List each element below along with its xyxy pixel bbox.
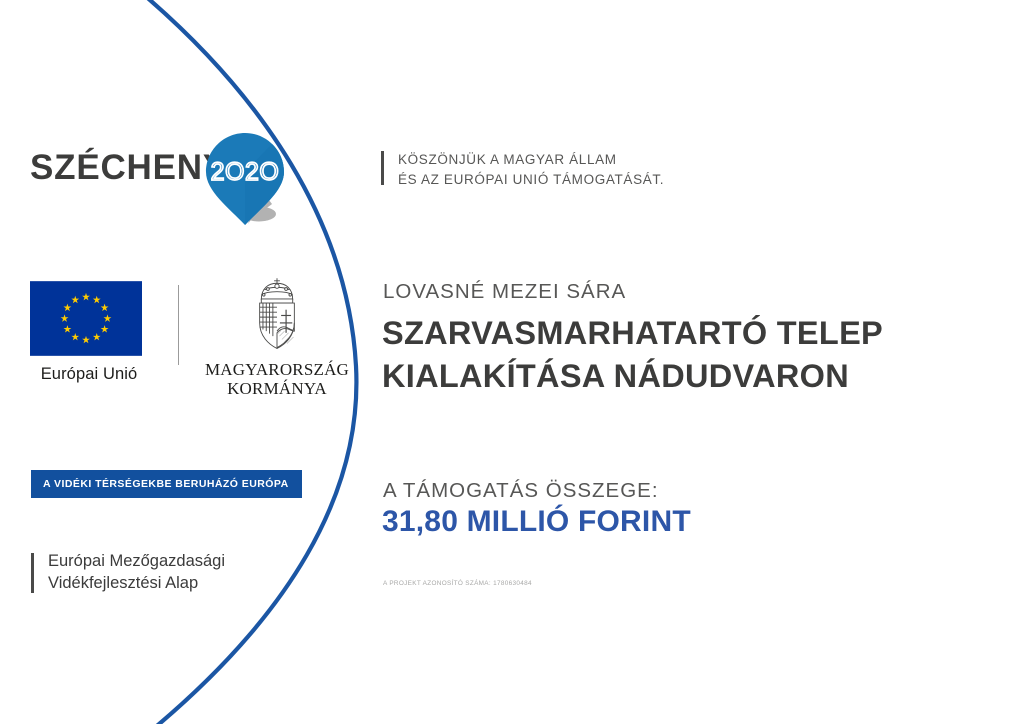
project-title-line1: SZARVASMARHATARTÓ TELEP (382, 312, 883, 355)
european-union-block: Európai Unió (30, 281, 148, 384)
hungary-government-caption: MAGYARORSZÁG KORMÁNYA (202, 360, 352, 398)
svg-text:2O2O: 2O2O (211, 158, 280, 186)
szechenyi-map-pin-icon: 2O2O (202, 128, 288, 228)
hungary-government-block: MAGYARORSZÁG KORMÁNYA (202, 275, 352, 398)
logo-divider (178, 285, 179, 365)
rural-europe-banner: A VIDÉKI TÉRSÉGEKBE BERUHÁZÓ EURÓPA (31, 470, 302, 498)
european-union-caption: Európai Unió (30, 365, 148, 384)
project-title: SZARVASMARHATARTÓ TELEP KIALAKÍTÁSA NÁDU… (382, 312, 883, 398)
thanks-line2: ÉS AZ EURÓPAI UNIÓ TÁMOGATÁSÁT. (398, 170, 664, 190)
funding-amount-value: 31,80 MILLIÓ FORINT (382, 505, 691, 539)
agricultural-fund-text: Európai Mezőgazdasági Vidékfejlesztési A… (31, 551, 225, 595)
funding-amount-label: A TÁMOGATÁS ÖSSZEGE: (383, 479, 659, 503)
project-title-line2: KIALAKÍTÁSA NÁDUDVARON (382, 355, 883, 398)
european-union-flag-icon (30, 281, 142, 356)
thanks-message: KÖSZÖNJÜK A MAGYAR ÁLLAM ÉS AZ EURÓPAI U… (381, 150, 664, 190)
hungary-caption-line2: KORMÁNYA (202, 379, 352, 398)
agricultural-fund-line1: Európai Mezőgazdasági (48, 551, 225, 573)
poster-board: SZÉCHENYI 2O2O (0, 0, 1024, 724)
project-identifier: A PROJEKT AZONOSÍTÓ SZÁMA: 1780630484 (383, 580, 532, 587)
left-logo-column: SZÉCHENYI 2O2O (0, 0, 340, 724)
beneficiary-name: LOVASNÉ MEZEI SÁRA (383, 280, 626, 304)
right-content-column: KÖSZÖNJÜK A MAGYAR ÁLLAM ÉS AZ EURÓPAI U… (381, 0, 1001, 724)
hungary-coat-of-arms-icon (248, 275, 306, 351)
thanks-line1: KÖSZÖNJÜK A MAGYAR ÁLLAM (398, 150, 664, 170)
agricultural-fund-line2: Vidékfejlesztési Alap (48, 573, 225, 595)
hungary-caption-line1: MAGYARORSZÁG (202, 360, 352, 379)
szechenyi-2020-logo: SZÉCHENYI 2O2O (30, 128, 290, 232)
eu-hungary-logo-row: Európai Unió (30, 281, 320, 411)
